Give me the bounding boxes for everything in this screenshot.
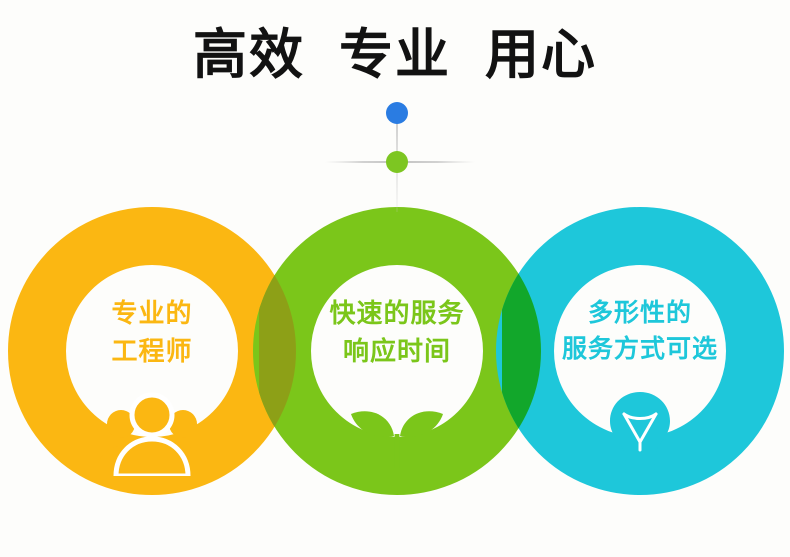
page-title: 高效 专业 用心 [0, 28, 790, 82]
overlap-orange-green [282, 236, 512, 466]
infographic-canvas: 高效 专业 用心 [0, 0, 790, 557]
ring-engineers [37, 236, 267, 466]
overlap-green-cyan [525, 236, 755, 466]
